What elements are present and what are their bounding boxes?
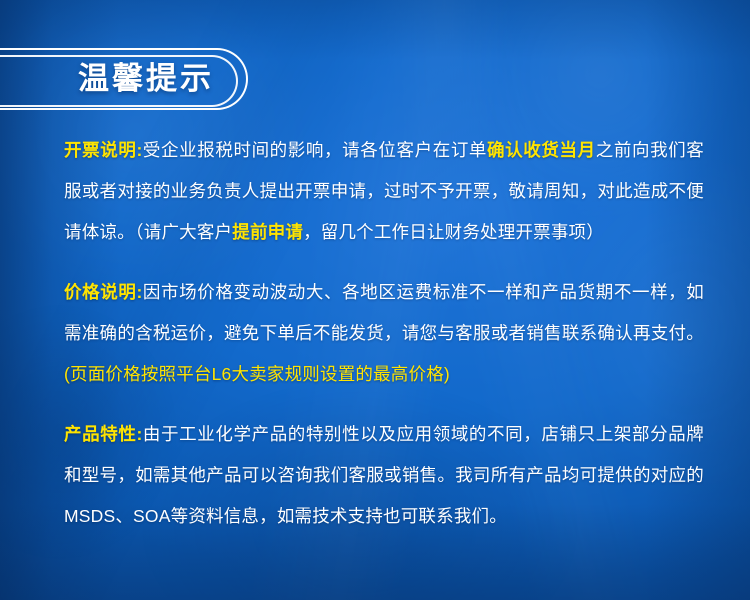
section-invoice-text-1: 受企业报税时间的影响，请各位客户在订单 [142, 140, 487, 160]
section-product-label: 产品特性: [64, 424, 142, 444]
section-product: 产品特性:由于工业化学产品的特别性以及应用领域的不同，店铺只上架部分品牌和型号，… [64, 414, 704, 537]
section-price-note: (页面价格按照平台L6大卖家规则设置的最高价格) [64, 364, 450, 384]
section-invoice-highlight-2: 提前申请 [232, 222, 303, 242]
section-invoice: 开票说明:受企业报税时间的影响，请各位客户在订单确认收货当月之前向我们客服或者对… [64, 130, 704, 253]
section-price-label: 价格说明: [64, 282, 142, 302]
section-invoice-highlight-1: 确认收货当月 [487, 140, 596, 160]
section-invoice-label: 开票说明: [64, 140, 142, 160]
section-invoice-paragraph: 开票说明:受企业报税时间的影响，请各位客户在订单确认收货当月之前向我们客服或者对… [64, 130, 704, 253]
section-product-paragraph: 产品特性:由于工业化学产品的特别性以及应用领域的不同，店铺只上架部分品牌和型号，… [64, 414, 704, 537]
page-title: 温馨提示 [78, 52, 214, 106]
promo-banner: 温馨提示 开票说明:受企业报税时间的影响，请各位客户在订单确认收货当月之前向我们… [0, 0, 750, 600]
section-price: 价格说明:因市场价格变动波动大、各地区运费标准不一样和产品货期不一样，如需准确的… [64, 272, 704, 395]
section-price-paragraph: 价格说明:因市场价格变动波动大、各地区运费标准不一样和产品货期不一样，如需准确的… [64, 272, 704, 395]
section-product-text-1: 由于工业化学产品的特别性以及应用领域的不同，店铺只上架部分品牌和型号，如需其他产… [64, 424, 704, 526]
section-price-text-1: 因市场价格变动波动大、各地区运费标准不一样和产品货期不一样，如需准确的含税运价，… [64, 282, 704, 343]
section-invoice-text-3: ，留几个工作日让财务处理开票事项） [303, 222, 604, 242]
